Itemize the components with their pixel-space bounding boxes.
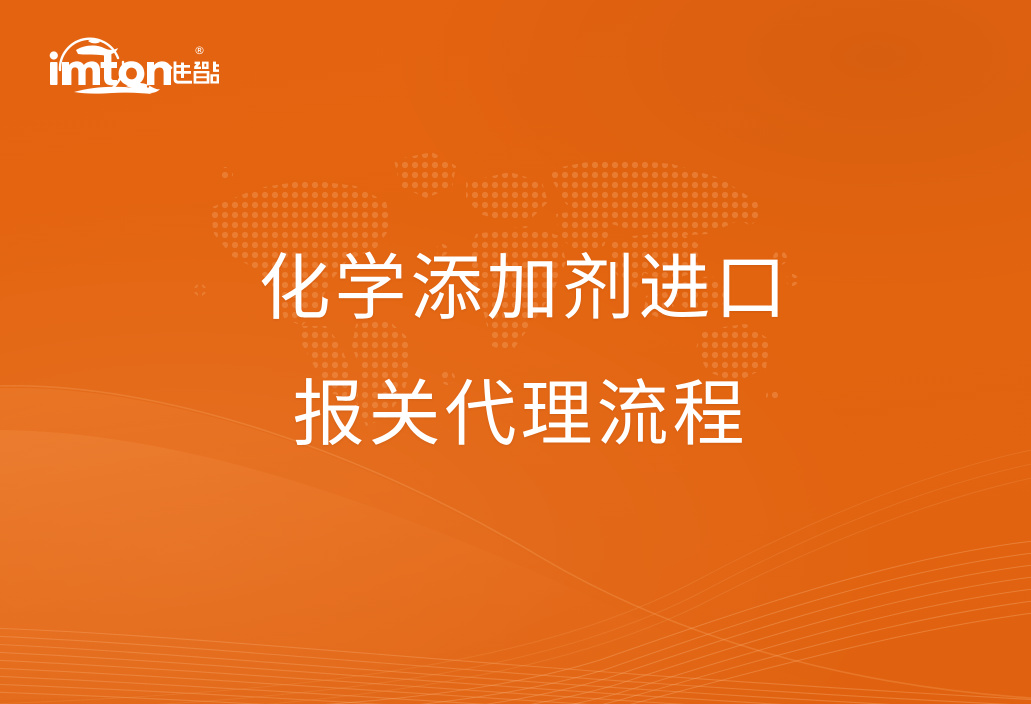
page-title: 化学添加剂进口 报关代理流程 xyxy=(0,252,1031,450)
cover-banner: ® 化学添加剂进口 报关代理流程 xyxy=(0,0,1031,704)
registered-trademark-icon: ® xyxy=(194,45,205,56)
title-line-1: 化学添加剂进口 xyxy=(18,252,1031,324)
title-line-2: 报关代理流程 xyxy=(10,378,1031,450)
brand-logo[interactable]: ® xyxy=(44,28,219,100)
globe-with-dolphin-logo xyxy=(44,28,219,100)
